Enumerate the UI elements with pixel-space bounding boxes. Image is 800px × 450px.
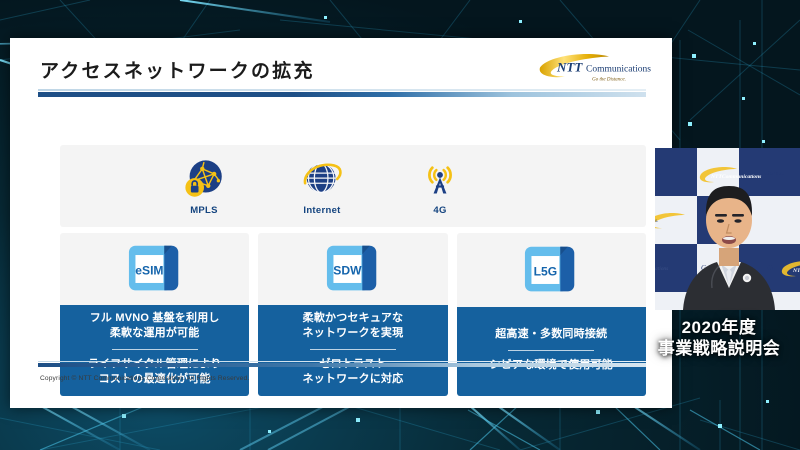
title-divider <box>38 92 646 97</box>
divider <box>112 349 198 350</box>
divider <box>508 350 594 351</box>
feature-card-sdw: SDW 柔軟かつセキュアな ネットワークを実現 ゼロトラスト ネットワークに対応 <box>258 233 447 396</box>
presentation-slide: アクセスネットワークの拡充 NTT Communications Go the … <box>10 38 672 408</box>
network-lock-icon <box>178 155 230 203</box>
feature-card-row: eSIM フル MVNO 基盤を利用し 柔軟な運用が可能 ライフサイクル管理によ… <box>60 233 646 396</box>
l5g-badge-text: L5G <box>534 265 558 279</box>
event-title-overlay: 2020年度 事業戦略説明会 <box>641 318 797 359</box>
network-type-mpls: MPLS <box>178 155 230 216</box>
feature-card-body: 超高速・多数同時接続 シビアな環境で使用可能 <box>457 307 646 396</box>
speaker-portrait <box>655 148 800 310</box>
network-type-label: 4G <box>414 205 466 216</box>
svg-text:Communications: Communications <box>586 65 651 75</box>
event-title-line1: 2020年度 <box>641 318 797 339</box>
feature-card-body: フル MVNO 基盤を利用し 柔軟な運用が可能 ライフサイクル管理により コスト… <box>60 305 249 396</box>
network-type-4g: 4G <box>414 155 466 216</box>
feature-card-l5g: L5G 超高速・多数同時接続 シビアな環境で使用可能 <box>457 233 646 396</box>
network-type-internet: Internet <box>296 155 348 216</box>
feature-headline: 柔軟かつセキュアな ネットワークを実現 <box>303 311 404 342</box>
esim-badge-icon: eSIM <box>125 233 185 305</box>
feature-card-esim: eSIM フル MVNO 基盤を利用し 柔軟な運用が可能 ライフサイクル管理によ… <box>60 233 249 396</box>
feature-headline: フル MVNO 基盤を利用し 柔軟な運用が可能 <box>90 311 220 342</box>
footer-divider <box>38 363 646 367</box>
esim-badge-text: eSIM <box>135 263 163 277</box>
speaker-video-feed[interactable]: NTTCommunications NTTCom the Distance. s… <box>655 148 800 310</box>
globe-orbit-icon <box>296 155 348 203</box>
sdw-badge-icon: SDW <box>323 233 383 305</box>
svg-text:NTT: NTT <box>556 60 583 75</box>
copyright-notice: Copyright © NTT Communications Corporati… <box>40 375 249 382</box>
event-title-line2: 事業戦略説明会 <box>641 339 797 360</box>
network-types-panel: MPLS Internet <box>60 145 646 227</box>
sdw-badge-text: SDW <box>333 263 362 277</box>
divider <box>310 349 396 350</box>
ntt-communications-logo: NTT Communications Go the Distance. <box>534 52 654 86</box>
network-icon-row: MPLS Internet <box>178 155 466 216</box>
network-type-label: Internet <box>296 205 348 216</box>
network-type-label: MPLS <box>178 205 230 216</box>
svg-text:Go the Distance.: Go the Distance. <box>592 78 626 83</box>
antenna-tower-icon <box>414 155 466 203</box>
feature-headline: 超高速・多数同時接続 <box>495 327 607 343</box>
l5g-badge-icon: L5G <box>521 233 581 307</box>
page-title: アクセスネットワークの拡充 <box>40 56 315 83</box>
feature-card-body: 柔軟かつセキュアな ネットワークを実現 ゼロトラスト ネットワークに対応 <box>258 305 447 396</box>
